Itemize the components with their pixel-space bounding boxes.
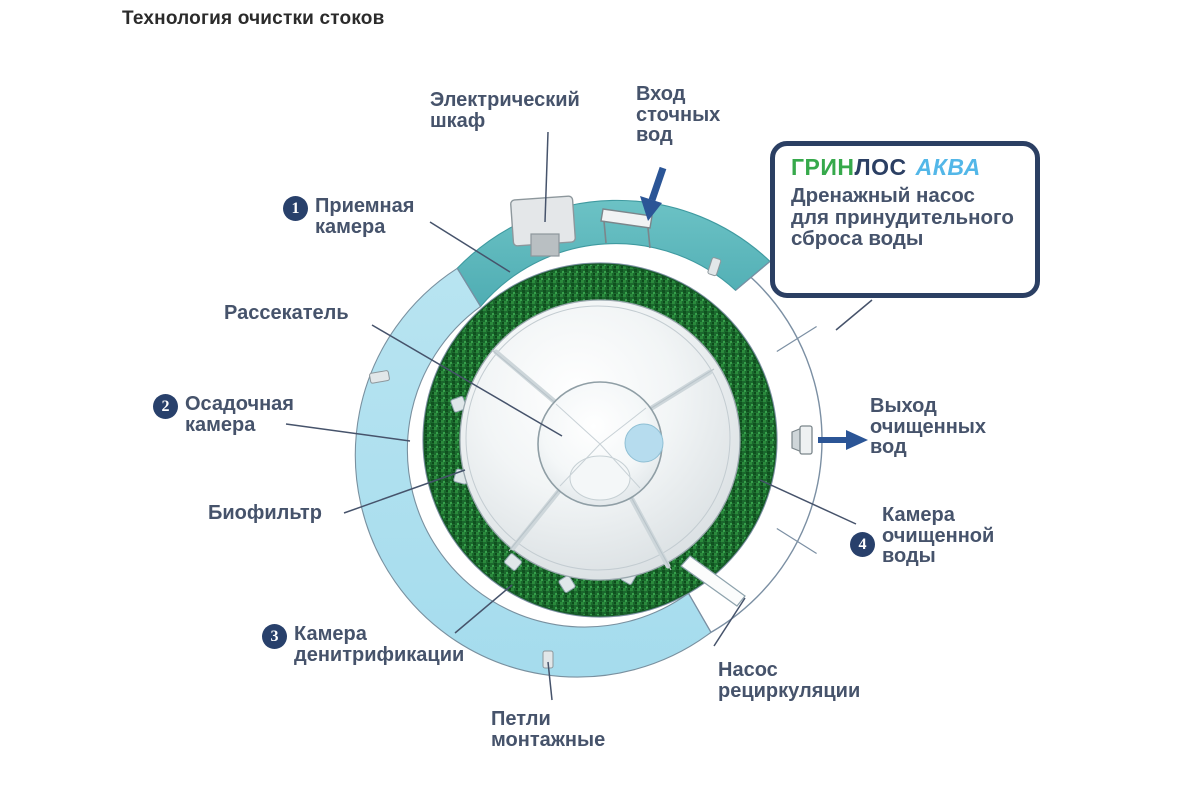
label-distributor: Рассекатель [224,303,349,324]
label-receiving-chamber-text: Приемная камера [315,196,414,237]
label-settling-chamber-text: Осадочная камера [185,394,294,435]
label-denitrification-chamber: 3 Камера денитрификации [262,624,464,665]
label-electrical-cabinet: Электрический шкаф [430,90,580,131]
label-receiving-chamber: 1 Приемная камера [283,196,414,237]
clean-water-outlet-icon [792,426,812,454]
callout-description: Дренажный насос для принудительного сбро… [791,185,1035,250]
label-denitrification-chamber-text: Камера денитрификации [294,624,464,665]
recirculation-port [625,424,663,462]
brand-part-akva: АКВА [916,154,981,180]
label-waste-inlet: Вход сточных вод [636,84,720,146]
brand-logo: ГРИНЛОСАКВА [791,156,1035,179]
badge-2: 2 [153,394,178,419]
label-clean-water-outlet: Выход очищенных вод [870,396,986,458]
badge-4: 4 [850,532,875,557]
label-clean-water-chamber-text: Камера очищенной воды [882,505,994,567]
label-clean-water-chamber: 4 Камера очищенной воды [850,505,994,567]
label-biofilter: Биофильтр [208,503,322,524]
cone-base [570,456,630,500]
badge-1: 1 [283,196,308,221]
arrow-right-icon [818,430,868,450]
diagram-stage: Технология очистки стоков [0,0,1200,800]
badge-3: 3 [262,624,287,649]
label-recirculation-pump: Насос рециркуляции [718,660,860,701]
label-settling-chamber: 2 Осадочная камера [153,394,294,435]
brand-part-los: ЛОС [855,154,907,180]
drainage-pump-callout: ГРИНЛОСАКВА Дренажный насос для принудит… [770,141,1040,298]
label-mounting-loops: Петли монтажные [491,709,605,750]
brand-part-grin: ГРИН [791,154,855,180]
